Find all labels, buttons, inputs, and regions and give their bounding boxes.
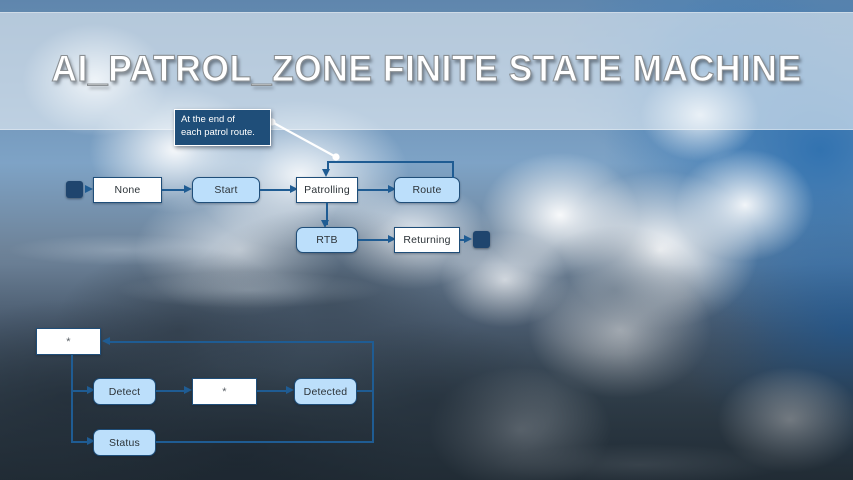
- callout-line-1: At the end of: [181, 114, 264, 127]
- node-start-label: Start: [214, 184, 237, 196]
- edge-anytop-spine: [71, 355, 73, 443]
- node-none[interactable]: None: [93, 177, 162, 203]
- node-rtb-label: RTB: [316, 234, 337, 246]
- edge-return-rail-up: [372, 341, 374, 442]
- arrow-start-to-none: [85, 185, 93, 193]
- edge-detect-anymid: [156, 390, 186, 392]
- arrowhead-return-anytop: [102, 337, 110, 345]
- node-start[interactable]: Start: [192, 177, 260, 203]
- start-terminal-marker: [66, 181, 83, 198]
- page-title: AI_PATROL_ZONE FINITE STATE MACHINE: [17, 48, 836, 90]
- arrowhead-none-start: [184, 185, 192, 193]
- node-any-top[interactable]: *: [36, 328, 101, 355]
- arrowhead-detect-anymid: [184, 386, 192, 394]
- node-detected[interactable]: Detected: [294, 378, 357, 405]
- edge-start-patrolling: [260, 189, 292, 191]
- node-patrolling[interactable]: Patrolling: [296, 177, 358, 203]
- node-detect[interactable]: Detect: [93, 378, 156, 405]
- node-none-label: None: [115, 184, 141, 196]
- edge-status-right: [156, 441, 374, 443]
- end-terminal-marker: [473, 231, 490, 248]
- node-patrolling-label: Patrolling: [304, 184, 350, 196]
- node-detected-label: Detected: [304, 386, 348, 398]
- edge-route-up: [452, 161, 454, 178]
- node-status-label: Status: [109, 437, 140, 449]
- node-returning-label: Returning: [403, 234, 450, 246]
- arrowhead-route-patrolling: [322, 169, 330, 177]
- edge-rtb-returning: [358, 239, 390, 241]
- edge-none-start: [162, 189, 186, 191]
- arrowhead-anymid-detected: [286, 386, 294, 394]
- arrowhead-returning-end: [464, 235, 472, 243]
- callout-note[interactable]: At the end of each patrol route.: [174, 109, 271, 146]
- edge-return-rail-left: [110, 341, 374, 343]
- node-returning[interactable]: Returning: [394, 227, 460, 253]
- edge-anymid-detected: [257, 390, 289, 392]
- edge-route-left: [327, 161, 454, 163]
- callout-line-2: each patrol route.: [181, 127, 264, 140]
- node-any-top-label: *: [66, 336, 70, 348]
- node-any-mid[interactable]: *: [192, 378, 257, 405]
- node-any-mid-label: *: [222, 386, 226, 398]
- node-status[interactable]: Status: [93, 429, 156, 456]
- node-detect-label: Detect: [109, 386, 141, 398]
- node-route-label: Route: [412, 184, 441, 196]
- node-route[interactable]: Route: [394, 177, 460, 203]
- edge-patrolling-route: [358, 189, 390, 191]
- node-rtb[interactable]: RTB: [296, 227, 358, 253]
- slide-canvas: AI_PATROL_ZONE FINITE STATE MACHINE None…: [0, 0, 853, 480]
